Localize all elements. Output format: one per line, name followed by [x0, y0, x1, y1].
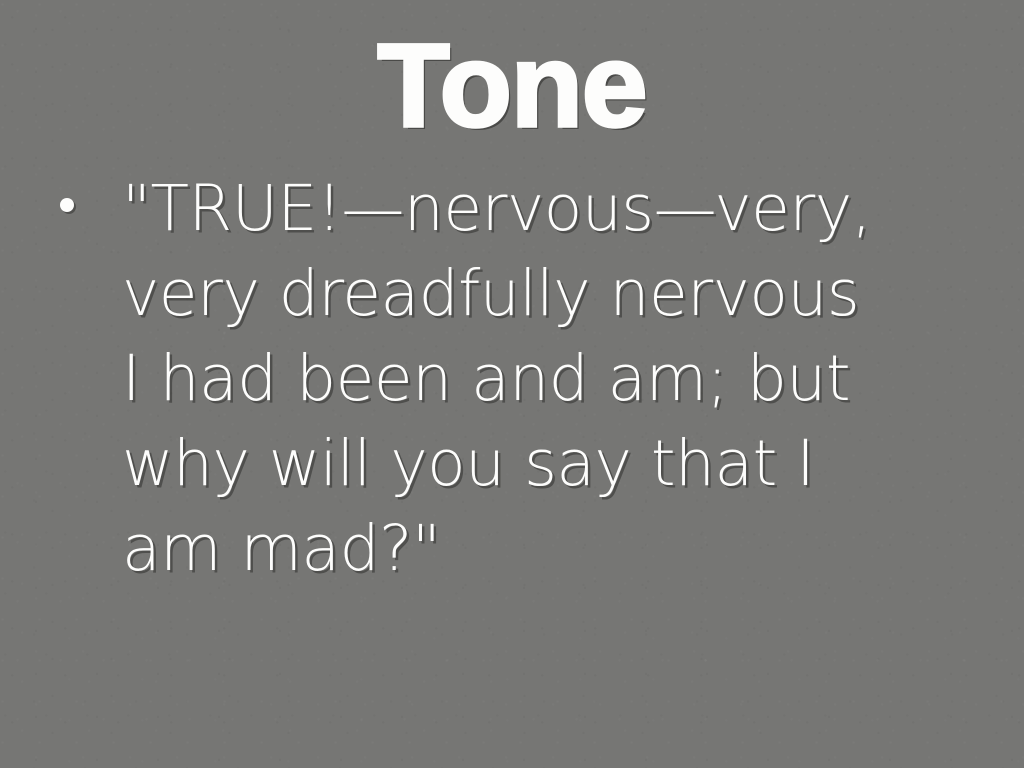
page-title: Tone: [0, 24, 1024, 149]
bullet-dot-icon: [60, 198, 74, 212]
bullet-list: "TRUE!—nervous—very, very dreadfully ner…: [60, 166, 960, 591]
presentation-slide: Tone "TRUE!—nervous—very, very dreadfull…: [0, 0, 1024, 768]
bullet-list-item-quote: "TRUE!—nervous—very, very dreadfully ner…: [122, 166, 960, 591]
